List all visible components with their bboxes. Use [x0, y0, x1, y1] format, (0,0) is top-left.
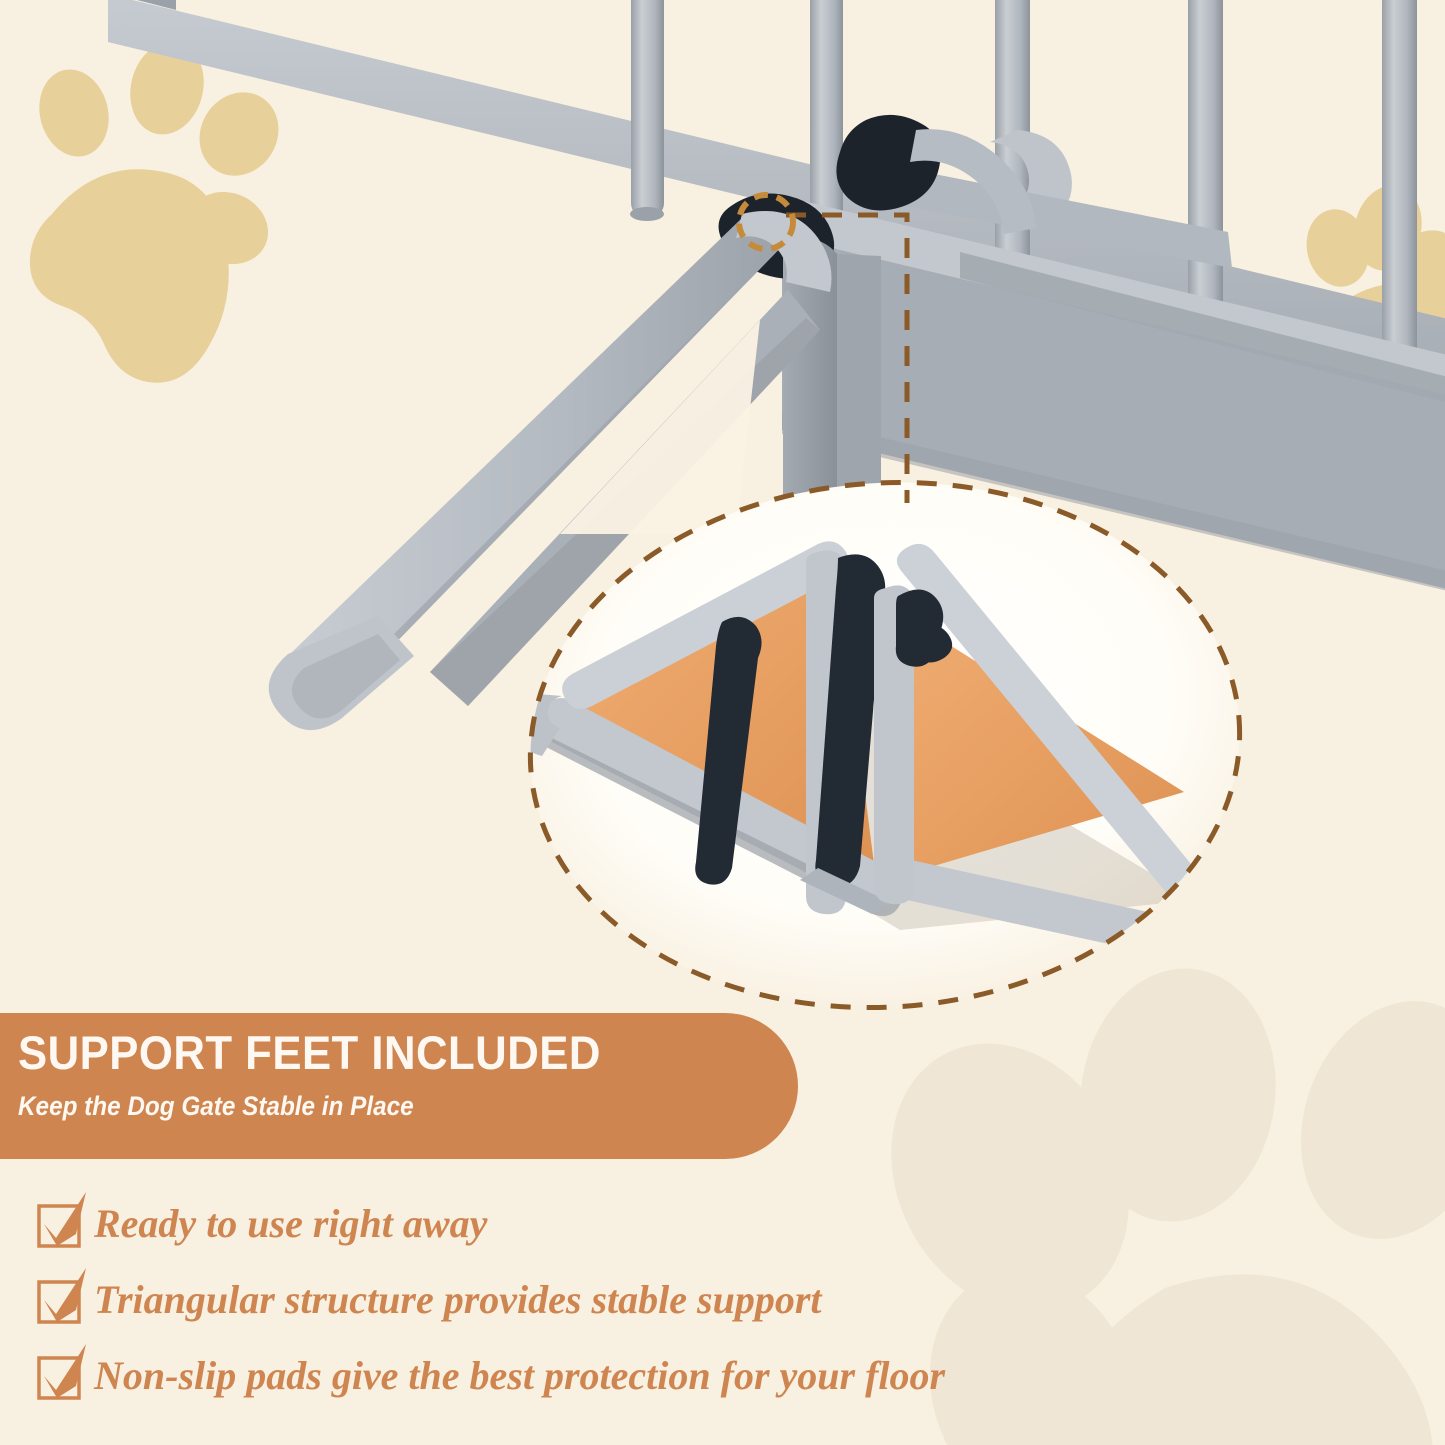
detail-magnifier: [513, 459, 1258, 1031]
list-item: Ready to use right away: [36, 1186, 1376, 1262]
checkbox-checked-icon: [36, 1354, 80, 1398]
list-item: Non-slip pads give the best protection f…: [36, 1338, 1376, 1414]
banner-subtitle: Keep the Dog Gate Stable in Place: [18, 1093, 720, 1120]
gate-bar: [630, 0, 664, 221]
list-item-label: Non-slip pads give the best protection f…: [94, 1356, 945, 1396]
checkbox-checked-icon: [36, 1202, 80, 1246]
list-item-label: Ready to use right away: [94, 1204, 487, 1244]
list-item-label: Triangular structure provides stable sup…: [94, 1280, 822, 1320]
list-item: Triangular structure provides stable sup…: [36, 1262, 1376, 1338]
paw-top-left: [30, 34, 294, 383]
feature-bullet-list: Ready to use right away Triangular struc…: [36, 1186, 1376, 1414]
banner-title: SUPPORT FEET INCLUDED: [18, 1029, 743, 1076]
foot-post-base: [1168, 938, 1244, 968]
foot-frame-loop: [1166, 880, 1233, 972]
product-feature-image: SUPPORT FEET INCLUDED Keep the Dog Gate …: [0, 0, 1445, 1445]
feature-banner: SUPPORT FEET INCLUDED Keep the Dog Gate …: [0, 1013, 798, 1159]
checkbox-checked-icon: [36, 1278, 80, 1322]
